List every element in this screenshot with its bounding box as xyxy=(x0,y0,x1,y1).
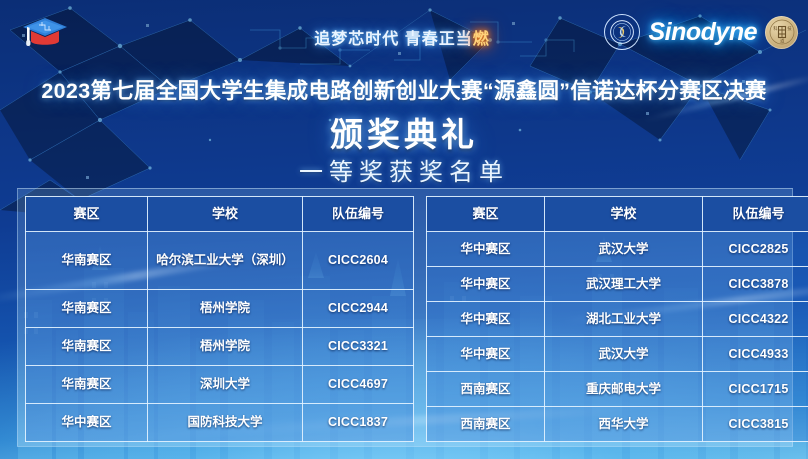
slogan-banner: 追梦芯时代 青春正当燃 xyxy=(304,22,500,52)
cell-code: CICC4697 xyxy=(303,365,414,403)
poster-header: 追梦芯时代 青春正当燃 Sinodyne 科 技 道 xyxy=(0,0,808,66)
column-header-region: 赛区 xyxy=(26,197,148,232)
cell-region: 华中赛区 xyxy=(427,232,545,267)
page-title: 2023第七届全国大学生集成电路创新创业大赛“源鑫圆”信诺达杯分赛区决赛 xyxy=(0,74,808,105)
slogan-hot-text: 燃 xyxy=(473,25,490,49)
cell-school: 武汉理工大学 xyxy=(545,267,703,302)
poster-canvas: 追梦芯时代 青春正当燃 Sinodyne 科 技 道 xyxy=(0,0,808,459)
winners-table-right: 赛区 学校 队伍编号 华中赛区 武汉大学 CICC2825 华中赛区 武汉理工大… xyxy=(426,196,808,442)
cell-school: 武汉大学 xyxy=(545,337,703,372)
table-row: 华中赛区 国防科技大学 CICC1837 xyxy=(26,403,414,441)
table-header-row: 赛区 学校 队伍编号 xyxy=(427,197,808,232)
table-row: 华中赛区 武汉理工大学 CICC3878 xyxy=(427,267,808,302)
cell-code: CICC4322 xyxy=(703,302,808,337)
table-header-row: 赛区 学校 队伍编号 xyxy=(26,197,414,232)
company-circular-emblem-icon xyxy=(604,14,640,50)
cell-school: 武汉大学 xyxy=(545,232,703,267)
ceremony-heading: 颁奖典礼 xyxy=(0,108,808,156)
column-header-code: 队伍编号 xyxy=(703,197,808,232)
svg-text:技: 技 xyxy=(787,25,792,32)
table-row: 华南赛区 哈尔滨工业大学（深圳） CICC2604 xyxy=(26,232,414,290)
cell-region: 西南赛区 xyxy=(427,372,545,407)
brand-lockup: Sinodyne 科 技 道 xyxy=(604,10,798,54)
cell-school: 湖北工业大学 xyxy=(545,302,703,337)
svg-text:道: 道 xyxy=(780,37,785,44)
cell-region: 华南赛区 xyxy=(26,327,148,365)
cell-region: 华中赛区 xyxy=(427,337,545,372)
cell-code: CICC2604 xyxy=(303,232,414,290)
cell-code: CICC2944 xyxy=(303,289,414,327)
column-header-region: 赛区 xyxy=(427,197,545,232)
cell-region: 华中赛区 xyxy=(427,302,545,337)
cell-school: 西华大学 xyxy=(545,407,703,442)
cell-code: CICC3321 xyxy=(303,327,414,365)
cell-code: CICC1715 xyxy=(703,372,808,407)
cell-code: CICC4933 xyxy=(703,337,808,372)
column-header-code: 队伍编号 xyxy=(303,197,414,232)
svg-text:科: 科 xyxy=(773,25,778,32)
cell-school: 哈尔滨工业大学（深圳） xyxy=(148,232,303,290)
cell-code: CICC1837 xyxy=(303,403,414,441)
cell-code: CICC3815 xyxy=(703,407,808,442)
table-row: 华中赛区 武汉大学 CICC2825 xyxy=(427,232,808,267)
winners-table-left: 赛区 学校 队伍编号 华南赛区 哈尔滨工业大学（深圳） CICC2604 华南赛… xyxy=(25,196,414,442)
column-header-school: 学校 xyxy=(545,197,703,232)
table-row: 华中赛区 武汉大学 CICC4933 xyxy=(427,337,808,372)
table-row: 西南赛区 西华大学 CICC3815 xyxy=(427,407,808,442)
cell-region: 华南赛区 xyxy=(26,365,148,403)
slogan-main-text: 追梦芯时代 青春正当 xyxy=(314,25,472,49)
table-row: 华南赛区 梧州学院 CICC3321 xyxy=(26,327,414,365)
gold-seal-icon: 科 技 道 xyxy=(765,16,798,49)
winners-tables: 赛区 学校 队伍编号 华南赛区 哈尔滨工业大学（深圳） CICC2604 华南赛… xyxy=(25,196,785,442)
subtitle-heading: 一等奖获奖名单 xyxy=(0,152,808,187)
cell-region: 华中赛区 xyxy=(427,267,545,302)
cell-code: CICC2825 xyxy=(703,232,808,267)
cell-school: 重庆邮电大学 xyxy=(545,372,703,407)
cell-code: CICC3878 xyxy=(703,267,808,302)
cell-region: 华南赛区 xyxy=(26,232,148,290)
brand-name: Sinodyne xyxy=(648,18,757,47)
cell-school: 国防科技大学 xyxy=(148,403,303,441)
table-row: 华南赛区 梧州学院 CICC2944 xyxy=(26,289,414,327)
cell-school: 深圳大学 xyxy=(148,365,303,403)
cell-region: 华南赛区 xyxy=(26,289,148,327)
cell-region: 西南赛区 xyxy=(427,407,545,442)
table-row: 西南赛区 重庆邮电大学 CICC1715 xyxy=(427,372,808,407)
table-row: 华中赛区 湖北工业大学 CICC4322 xyxy=(427,302,808,337)
table-row: 华南赛区 深圳大学 CICC4697 xyxy=(26,365,414,403)
graduation-cap-icon xyxy=(22,14,68,54)
cell-region: 华中赛区 xyxy=(26,403,148,441)
cell-school: 梧州学院 xyxy=(148,327,303,365)
cell-school: 梧州学院 xyxy=(148,289,303,327)
column-header-school: 学校 xyxy=(148,197,303,232)
